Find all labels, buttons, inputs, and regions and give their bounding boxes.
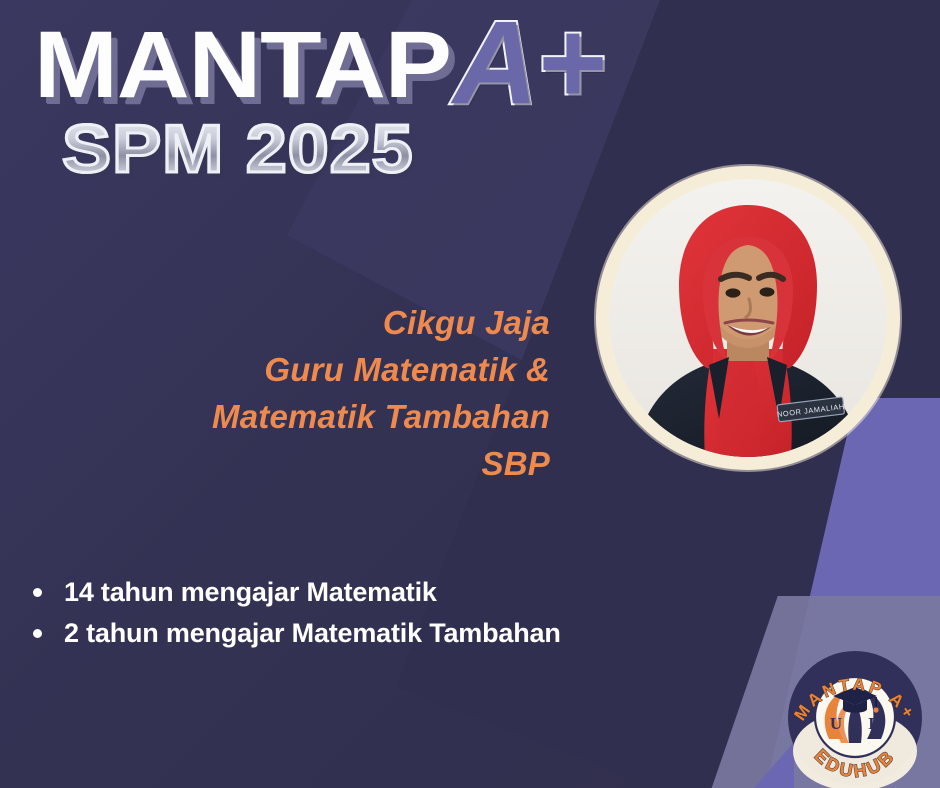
teacher-role-line-2: Matematik Tambahan xyxy=(120,394,550,441)
list-item: 14 tahun mengajar Matematik xyxy=(24,572,724,613)
poster-canvas: MANTAP A+ SPM 2025 Cikgu Jaja Guru Matem… xyxy=(0,0,940,788)
bullet-dot-icon xyxy=(33,629,42,638)
credential-text: 2 tahun mengajar Matematik Tambahan xyxy=(64,618,561,648)
teacher-portrait-frame: NOOR JAMALIAH xyxy=(596,166,900,470)
bullet-dot-icon xyxy=(33,588,42,597)
teacher-school-type: SBP xyxy=(120,441,550,488)
teacher-info-block: Cikgu Jaja Guru Matematik & Matematik Ta… xyxy=(120,300,550,487)
credentials-list: 14 tahun mengajar Matematik 2 tahun meng… xyxy=(24,572,724,654)
list-item: 2 tahun mengajar Matematik Tambahan xyxy=(24,613,724,654)
teacher-role-line-1: Guru Matematik & xyxy=(120,347,550,394)
logo-letter-h: H xyxy=(868,714,881,733)
brand-logo-mantap-a-plus-eduhub: U H MANTAP A+ EDUHUB xyxy=(781,647,929,788)
logo-letter-u: U xyxy=(830,714,842,733)
teacher-name: Cikgu Jaja xyxy=(120,300,550,347)
credential-text: 14 tahun mengajar Matematik xyxy=(64,577,437,607)
teacher-portrait-photo: NOOR JAMALIAH xyxy=(609,179,887,457)
